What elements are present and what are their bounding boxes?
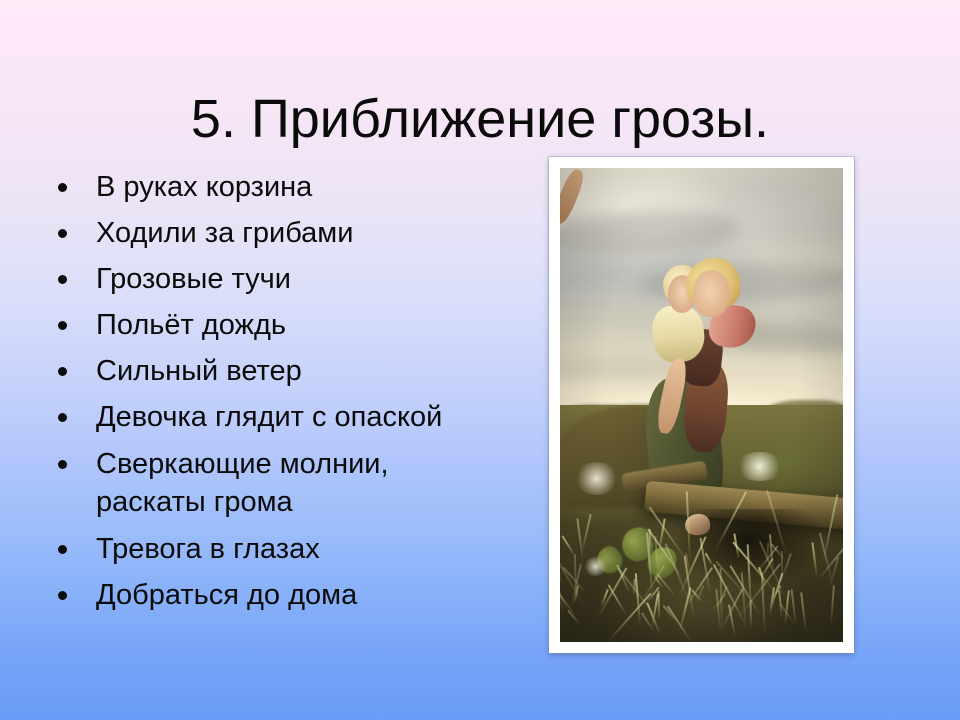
bullet-list: В руках корзина Ходили за грибами Грозов… xyxy=(44,168,499,622)
painting-grass-blade xyxy=(714,492,747,552)
list-item-label: Грозовые тучи xyxy=(96,260,499,298)
list-item: Сверкающие молнии, раскаты грома xyxy=(44,445,499,521)
painting-girl-head xyxy=(693,270,730,317)
painting-image xyxy=(560,168,843,642)
page-title: 5. Приближение грозы. xyxy=(191,88,769,150)
painting-grass-blade xyxy=(686,491,691,562)
painting-grass-blade xyxy=(812,543,819,579)
list-item-label: В руках корзина xyxy=(96,168,499,206)
list-item-label: Ходили за грибами xyxy=(96,214,499,252)
list-item: Добраться до дома xyxy=(44,576,499,614)
list-item-label: Сильный ветер xyxy=(96,352,499,390)
painting-grass-blade xyxy=(667,606,692,642)
list-item-label: Сверкающие молнии, раскаты грома xyxy=(96,445,499,521)
painting-grass-blade xyxy=(830,585,835,625)
list-item: Ходили за грибами xyxy=(44,214,499,252)
painting-grass-blade xyxy=(800,592,807,633)
bullet-dot-icon xyxy=(58,321,67,330)
list-item-label: Девочка глядит с опаской xyxy=(96,398,499,436)
list-item: Сильный ветер xyxy=(44,352,499,390)
painting-grass-blade xyxy=(581,514,592,553)
bullet-dot-icon xyxy=(58,413,67,422)
list-item: Грозовые тучи xyxy=(44,260,499,298)
bullet-dot-icon xyxy=(58,229,67,238)
bullet-dot-icon xyxy=(58,591,67,600)
presentation-slide: 5. Приближение грозы. В руках корзина Хо… xyxy=(0,0,960,720)
painting-grass-blade xyxy=(633,579,636,596)
list-item-label: Добраться до дома xyxy=(96,576,499,614)
list-item: Девочка глядит с опаской xyxy=(44,398,499,436)
bullet-dot-icon xyxy=(58,183,67,192)
list-item: Тревога в глазах xyxy=(44,530,499,568)
list-item: Польёт дождь xyxy=(44,306,499,344)
bullet-dot-icon xyxy=(58,545,67,554)
list-item: В руках корзина xyxy=(44,168,499,206)
picture-frame xyxy=(549,157,854,653)
list-item-label: Польёт дождь xyxy=(96,306,499,344)
painting-grass-blade xyxy=(608,585,627,616)
bullet-dot-icon xyxy=(58,460,67,469)
bullet-dot-icon xyxy=(58,367,67,376)
bullet-dot-icon xyxy=(58,275,67,284)
list-item-label: Тревога в глазах xyxy=(96,530,499,568)
painting-grass-blade xyxy=(647,528,683,578)
painting-grass xyxy=(560,424,843,642)
